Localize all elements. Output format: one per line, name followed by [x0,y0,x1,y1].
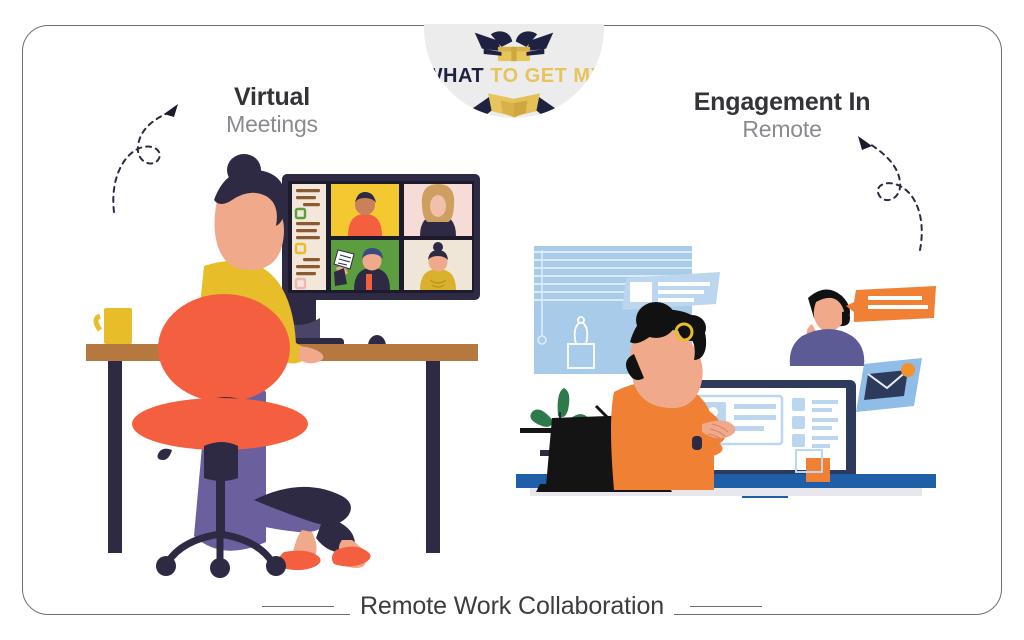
footer-caption: Remote Work Collaboration [350,592,674,621]
desk-leg-right [426,361,440,553]
footer-rule-left [262,606,334,607]
infographic-canvas: WHAT TO GET MY Virtual Meetings Engageme… [0,0,1024,640]
curved-dashed-arrow-right [846,128,932,252]
coffee-mug [96,308,132,344]
remote-engagement-illustration [516,236,936,506]
logo-wordmark: WHAT TO GET MY [424,66,604,86]
video-tile-participant-2 [404,184,472,236]
video-tile-participant-4 [404,240,472,290]
gift-fan-icon [459,88,569,118]
footer-caption-row: Remote Work Collaboration [0,592,1024,621]
heading-right-title: Engagement In [662,88,902,116]
video-tile-participant-3 [331,240,399,290]
person-avatar [790,289,865,366]
virtual-meetings-illustration [86,148,506,580]
gift-bow-icon [466,29,562,65]
chat-bubble-icon [846,286,936,322]
desk-mug [806,458,830,482]
email-icon [856,358,922,412]
video-tile-participant-1 [331,184,399,236]
id-card-icon [622,272,720,310]
desk-leg-left [108,361,122,553]
footer-rule-right [690,606,762,607]
